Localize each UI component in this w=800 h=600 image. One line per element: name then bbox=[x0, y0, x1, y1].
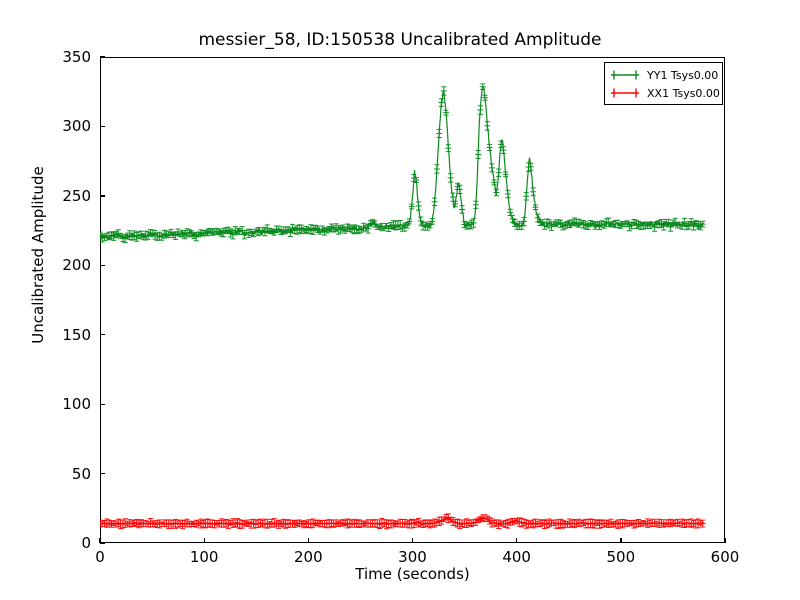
plot-data-area bbox=[100, 57, 725, 543]
page-title: messier_58, ID:150538 Uncalibrated Ampli… bbox=[0, 30, 800, 50]
legend-swatch-xx1 bbox=[610, 87, 640, 99]
x-tick-label: 200 bbox=[278, 548, 338, 566]
x-axis-label: Time (seconds) bbox=[100, 565, 725, 583]
chart-legend: YY1 Tsys0.00 XX1 Tsys0.00 bbox=[604, 62, 723, 105]
legend-label-yy1: YY1 Tsys0.00 bbox=[647, 69, 718, 82]
x-tick-label: 500 bbox=[591, 548, 651, 566]
matplotlib-figure: messier_58, ID:150538 Uncalibrated Ampli… bbox=[0, 0, 800, 600]
legend-label-xx1: XX1 Tsys0.00 bbox=[647, 87, 720, 100]
series-xx1 bbox=[100, 514, 706, 529]
series-yy1 bbox=[100, 84, 706, 243]
y-tick-label: 0 bbox=[38, 534, 91, 552]
x-tick-label: 600 bbox=[695, 548, 755, 566]
legend-entry-xx1: XX1 Tsys0.00 bbox=[610, 84, 717, 102]
x-tick-label: 300 bbox=[383, 548, 443, 566]
data-series-svg bbox=[100, 57, 725, 543]
legend-entry-yy1: YY1 Tsys0.00 bbox=[610, 66, 717, 84]
y-axis-label: Uncalibrated Amplitude bbox=[29, 12, 47, 498]
legend-swatch-yy1 bbox=[610, 69, 640, 81]
x-tick-label: 100 bbox=[174, 548, 234, 566]
x-tick-label: 400 bbox=[487, 548, 547, 566]
